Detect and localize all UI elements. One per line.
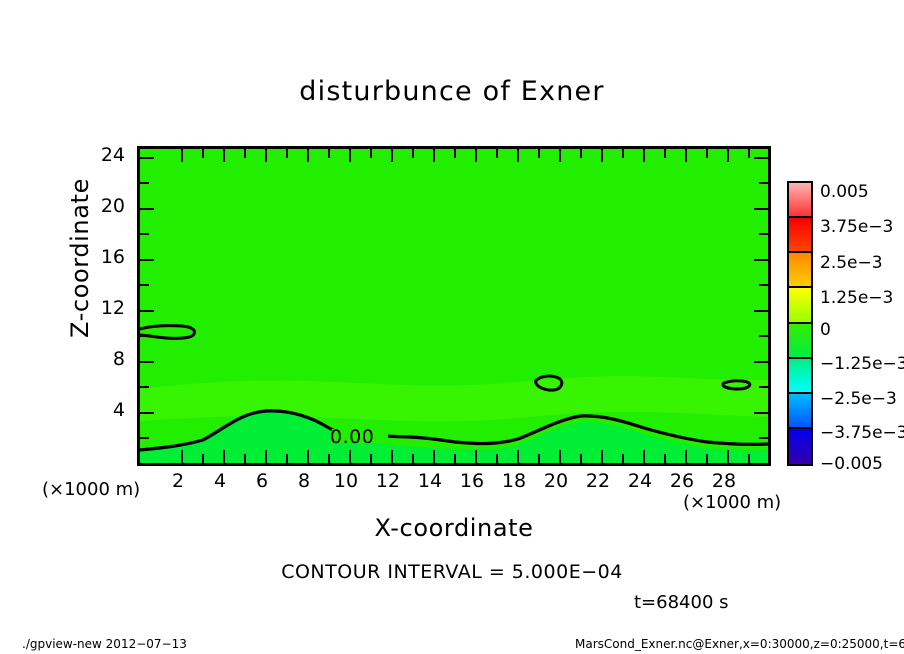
colorbar-cell-7[interactable]	[789, 218, 811, 253]
tick-x-3	[202, 454, 204, 463]
colorbar-label-0.005: 0.005	[820, 182, 869, 202]
tick-x-21	[580, 454, 582, 463]
colorbar-cell-8[interactable]	[789, 183, 811, 218]
tick-y-right-14	[759, 284, 768, 286]
colorbar-label-neg1.25e-3: −1.25e−3	[820, 354, 904, 374]
footer-source-text: MarsCond_Exner.nc@Exner,x=0:30000,z=0:25…	[575, 637, 904, 651]
tick-y-16	[140, 259, 154, 261]
tick-x-8	[307, 450, 309, 463]
tick-x-top-29	[748, 149, 750, 158]
y-tick-label-16: 16	[101, 246, 125, 268]
x-tick-label-8: 8	[298, 470, 310, 492]
tick-y-22	[140, 182, 149, 184]
tick-x-top-28	[727, 149, 729, 162]
x-axis-units-left: (×1000 m)	[42, 479, 140, 500]
tick-x-9	[328, 454, 330, 463]
tick-x-22	[601, 450, 603, 463]
x-tick-label-6: 6	[256, 470, 268, 492]
colorbar-cell-6[interactable]	[789, 253, 811, 288]
x-tick-label-12: 12	[376, 470, 400, 492]
plot-area: 0.00	[137, 146, 771, 466]
tick-y-right-22	[759, 182, 768, 184]
tick-x-23	[622, 454, 624, 463]
tick-x-5	[244, 454, 246, 463]
tick-y-right-4	[754, 412, 768, 414]
x-tick-label-4: 4	[214, 470, 226, 492]
tick-x-20	[559, 450, 561, 463]
contour-interval-text: CONTOUR INTERVAL = 5.000E−04	[0, 561, 904, 583]
colorbar-cell-3[interactable]	[789, 359, 811, 394]
colorbar-label-0: 0	[820, 320, 831, 340]
tick-x-top-7	[286, 149, 288, 158]
y-tick-label-4: 4	[113, 399, 125, 421]
x-tick-label-20: 20	[544, 470, 568, 492]
tick-x-top-13	[412, 149, 414, 158]
tick-x-top-14	[433, 149, 435, 162]
tick-x-top-8	[307, 149, 309, 162]
tick-x-12	[391, 450, 393, 463]
tick-y-right-10	[759, 335, 768, 337]
tick-x-top-2	[181, 149, 183, 162]
tick-x-14	[433, 450, 435, 463]
colorbar-cell-2[interactable]	[789, 394, 811, 429]
colorbar-label-neg2.5e-3: −2.5e−3	[820, 389, 897, 409]
colorbar-label-2.5e-3: 2.5e−3	[820, 253, 883, 273]
tick-x-11	[370, 454, 372, 463]
tick-x-26	[685, 450, 687, 463]
tick-x-top-6	[265, 149, 267, 162]
tick-x-top-17	[496, 149, 498, 158]
tick-x-top-22	[601, 149, 603, 162]
footer-command-text: ./gpview-new 2012−07−13	[22, 637, 187, 651]
page-title: disturbunce of Exner	[0, 76, 904, 107]
tick-x-top-4	[223, 149, 225, 162]
tick-x-top-5	[244, 149, 246, 158]
tick-x-25	[664, 454, 666, 463]
tick-y-18	[140, 233, 149, 235]
colorbar-label-neg3.75e-3: −3.75e−3	[820, 423, 904, 443]
x-tick-label-26: 26	[670, 470, 694, 492]
tick-x-2	[181, 450, 183, 463]
tick-y-10	[140, 335, 149, 337]
tick-x-top-3	[202, 149, 204, 158]
contour-field-canvas	[140, 149, 768, 463]
tick-x-15	[454, 454, 456, 463]
y-tick-label-20: 20	[101, 195, 125, 217]
tick-x-7	[286, 454, 288, 463]
colorbar-label-1.25e-3: 1.25e−3	[820, 288, 893, 308]
tick-x-top-18	[517, 149, 519, 162]
x-axis-units-right: (×1000 m)	[683, 492, 781, 513]
tick-y-right-16	[754, 259, 768, 261]
tick-x-top-24	[643, 149, 645, 162]
tick-x-top-26	[685, 149, 687, 162]
tick-x-top-9	[328, 149, 330, 158]
y-tick-label-24: 24	[101, 144, 125, 166]
tick-y-12	[140, 310, 154, 312]
tick-y-right-6	[759, 386, 768, 388]
tick-y-right-20	[754, 208, 768, 210]
x-tick-label-14: 14	[418, 470, 442, 492]
tick-x-top-11	[370, 149, 372, 158]
tick-y-right-24	[754, 157, 768, 159]
x-axis-title: X-coordinate	[137, 514, 771, 542]
tick-x-4	[223, 450, 225, 463]
tick-y-14	[140, 284, 149, 286]
colorbar-label-neg0.005: −0.005	[820, 454, 883, 474]
contour-value-label: 0.00	[330, 426, 374, 448]
tick-x-top-25	[664, 149, 666, 158]
tick-y-right-8	[754, 361, 768, 363]
tick-x-top-10	[349, 149, 351, 162]
x-tick-label-28: 28	[712, 470, 736, 492]
y-tick-label-8: 8	[113, 348, 125, 370]
tick-x-top-21	[580, 149, 582, 158]
tick-y-24	[140, 157, 154, 159]
colorbar-cell-1[interactable]	[789, 429, 811, 464]
tick-y-20	[140, 208, 154, 210]
tick-x-28	[727, 450, 729, 463]
x-tick-label-24: 24	[628, 470, 652, 492]
tick-y-right-2	[759, 437, 768, 439]
tick-x-27	[706, 454, 708, 463]
gpview-contour-plot-window: disturbunce of Exner 0.00	[0, 0, 904, 654]
y-axis-title: Z-coordinate	[66, 138, 94, 378]
tick-x-29	[748, 454, 750, 463]
tick-x-top-27	[706, 149, 708, 158]
tick-x-17	[496, 454, 498, 463]
tick-x-18	[517, 450, 519, 463]
y-tick-label-12: 12	[101, 297, 125, 319]
colorbar[interactable]	[787, 181, 813, 466]
timestamp-text: t=68400 s	[634, 592, 729, 613]
tick-x-top-12	[391, 149, 393, 162]
tick-x-6	[265, 450, 267, 463]
tick-y-right-12	[754, 310, 768, 312]
x-tick-label-16: 16	[460, 470, 484, 492]
tick-y-8	[140, 361, 154, 363]
tick-x-top-23	[622, 149, 624, 158]
tick-y-6	[140, 386, 149, 388]
colorbar-label-3.75e-3: 3.75e−3	[820, 217, 893, 237]
tick-x-10	[349, 450, 351, 463]
tick-y-2	[140, 437, 149, 439]
tick-x-top-20	[559, 149, 561, 162]
x-tick-label-18: 18	[502, 470, 526, 492]
x-tick-label-10: 10	[334, 470, 358, 492]
tick-x-top-16	[475, 149, 477, 162]
tick-x-top-15	[454, 149, 456, 158]
colorbar-cell-4[interactable]	[789, 324, 811, 359]
tick-x-16	[475, 450, 477, 463]
tick-x-13	[412, 454, 414, 463]
x-tick-label-2: 2	[172, 470, 184, 492]
tick-x-19	[538, 454, 540, 463]
tick-y-right-18	[759, 233, 768, 235]
x-tick-label-22: 22	[586, 470, 610, 492]
colorbar-cell-5[interactable]	[789, 288, 811, 323]
tick-x-24	[643, 450, 645, 463]
tick-y-4	[140, 412, 154, 414]
tick-x-top-19	[538, 149, 540, 158]
